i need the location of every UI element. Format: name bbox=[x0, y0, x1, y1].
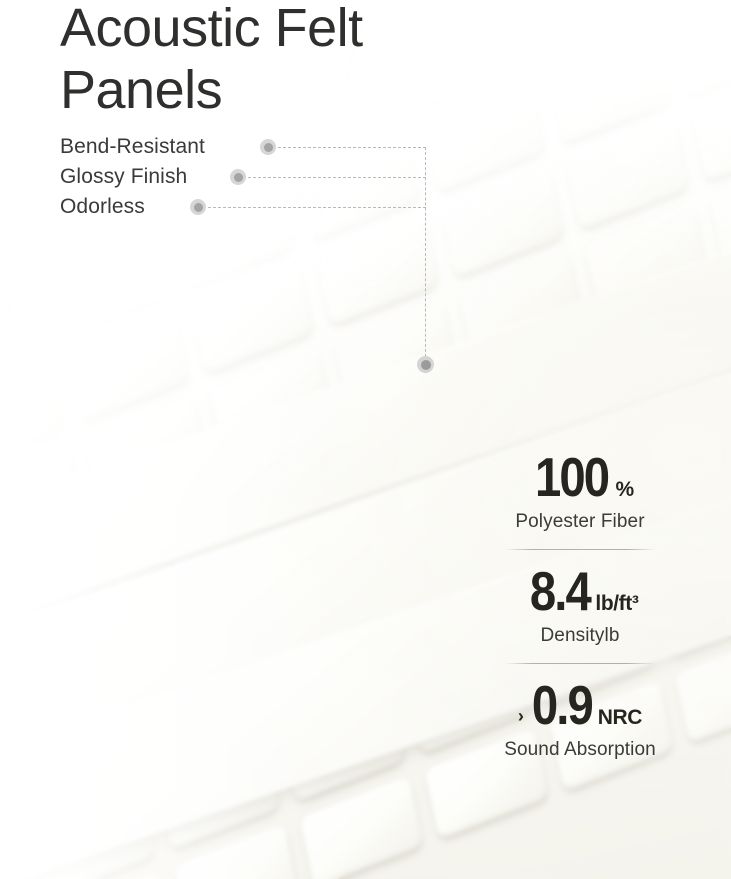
product-marketing-image: Acoustic Felt Panels Bend-Resistant Glos… bbox=[0, 0, 731, 879]
spec-stat-prefix: › bbox=[518, 706, 524, 727]
spec-stat-label: Densitylb bbox=[455, 625, 705, 647]
spec-stat-value: 8.4 bbox=[529, 564, 589, 619]
page-title: Acoustic Felt Panels bbox=[60, 0, 480, 121]
spec-stat-figure: 8.4 lb/ft³ bbox=[455, 564, 705, 619]
callout-leader-line bbox=[248, 177, 426, 178]
feature-label: Odorless bbox=[60, 195, 145, 219]
spec-stat-value: 0.9 bbox=[532, 678, 592, 733]
callout-leader-line bbox=[278, 147, 426, 148]
spec-divider bbox=[505, 549, 655, 550]
spec-stat-label: Polyester Fiber bbox=[455, 511, 705, 533]
page-title-line-2: Panels bbox=[60, 60, 480, 122]
spec-stat-unit: % bbox=[615, 478, 633, 502]
feature-callout-list: Bend-Resistant Glossy Finish Odorless bbox=[60, 132, 480, 222]
callout-leader-line-vertical bbox=[425, 147, 426, 362]
spec-stat-unit: NRC bbox=[598, 706, 642, 730]
spec-stat-value: 100 bbox=[535, 450, 608, 505]
spec-stat-unit: lb/ft³ bbox=[595, 592, 638, 616]
spec-divider bbox=[505, 663, 655, 664]
spec-stat-label: Sound Absorption bbox=[455, 739, 705, 761]
spec-stats-list: 100 % Polyester Fiber 8.4 lb/ft³ Density… bbox=[455, 450, 705, 761]
spec-stat-figure: › 0.9 NRC bbox=[455, 678, 705, 733]
callout-dot-icon bbox=[260, 139, 276, 155]
spec-stat-density: 8.4 lb/ft³ Densitylb bbox=[455, 564, 705, 647]
feature-label: Glossy Finish bbox=[60, 165, 187, 189]
callout-leader-line bbox=[208, 207, 426, 208]
page-title-line-1: Acoustic Felt bbox=[60, 0, 480, 60]
spec-stat-sound-absorption: › 0.9 NRC Sound Absorption bbox=[455, 678, 705, 761]
feature-label: Bend-Resistant bbox=[60, 135, 205, 159]
callout-dot-icon bbox=[190, 199, 206, 215]
spec-stat-figure: 100 % bbox=[455, 450, 705, 505]
callout-terminal-dot-icon bbox=[417, 356, 434, 373]
callout-dot-icon bbox=[230, 169, 246, 185]
spec-stat-polyester-fiber: 100 % Polyester Fiber bbox=[455, 450, 705, 533]
